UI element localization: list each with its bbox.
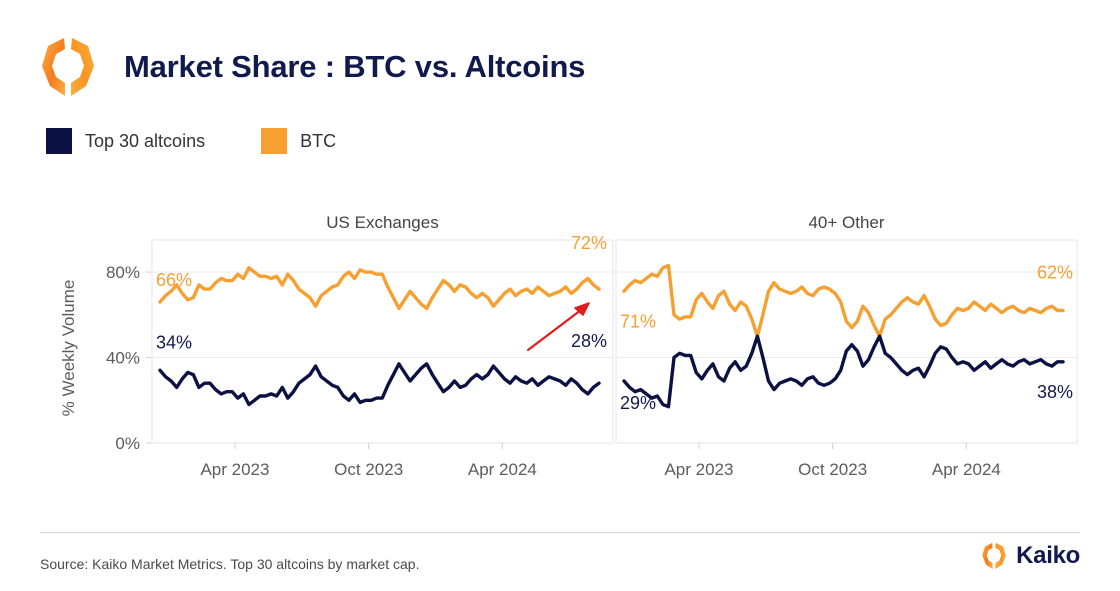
y-tick-label: 0% bbox=[115, 434, 140, 453]
chart-svg: % Weekly Volume 0%40%80%US ExchangesApr … bbox=[0, 0, 1120, 591]
series-line-altcoins bbox=[160, 364, 599, 405]
end-label-altcoins: 38% bbox=[1037, 382, 1073, 402]
end-label-btc: 62% bbox=[1037, 263, 1073, 283]
kaiko-hexagon-icon bbox=[981, 542, 1007, 570]
series-line-altcoins bbox=[624, 336, 1063, 407]
end-label-btc: 72% bbox=[571, 233, 607, 253]
start-label-btc: 66% bbox=[156, 270, 192, 290]
chart-figure: % Weekly Volume 0%40%80%US ExchangesApr … bbox=[0, 0, 1120, 591]
footer-divider bbox=[40, 532, 1080, 533]
y-tick-label: 40% bbox=[106, 349, 140, 368]
plot-root: 0%40%80%US ExchangesApr 2023Oct 2023Apr … bbox=[106, 213, 1077, 479]
start-label-btc: 71% bbox=[620, 311, 656, 331]
y-axis-title: % Weekly Volume bbox=[59, 280, 78, 417]
start-label-altcoins: 29% bbox=[620, 393, 656, 413]
start-label-altcoins: 34% bbox=[156, 332, 192, 352]
x-tick-label: Apr 2024 bbox=[468, 460, 537, 479]
end-label-altcoins: 28% bbox=[571, 331, 607, 351]
facet-panel-border bbox=[616, 240, 1077, 443]
x-tick-label: Apr 2023 bbox=[200, 460, 269, 479]
facet-title: US Exchanges bbox=[326, 213, 438, 232]
facet-panel-border bbox=[152, 240, 613, 443]
x-tick-label: Apr 2023 bbox=[664, 460, 733, 479]
footer-brand: Kaiko bbox=[981, 542, 1080, 570]
x-tick-label: Oct 2023 bbox=[334, 460, 403, 479]
x-tick-label: Oct 2023 bbox=[798, 460, 867, 479]
facet-title: 40+ Other bbox=[808, 213, 884, 232]
y-tick-label: 80% bbox=[106, 263, 140, 282]
footer-wordmark: Kaiko bbox=[1016, 542, 1080, 570]
source-note: Source: Kaiko Market Metrics. Top 30 alt… bbox=[40, 556, 419, 572]
series-line-btc bbox=[624, 266, 1063, 337]
series-line-btc bbox=[160, 268, 599, 309]
x-tick-label: Apr 2024 bbox=[932, 460, 1001, 479]
